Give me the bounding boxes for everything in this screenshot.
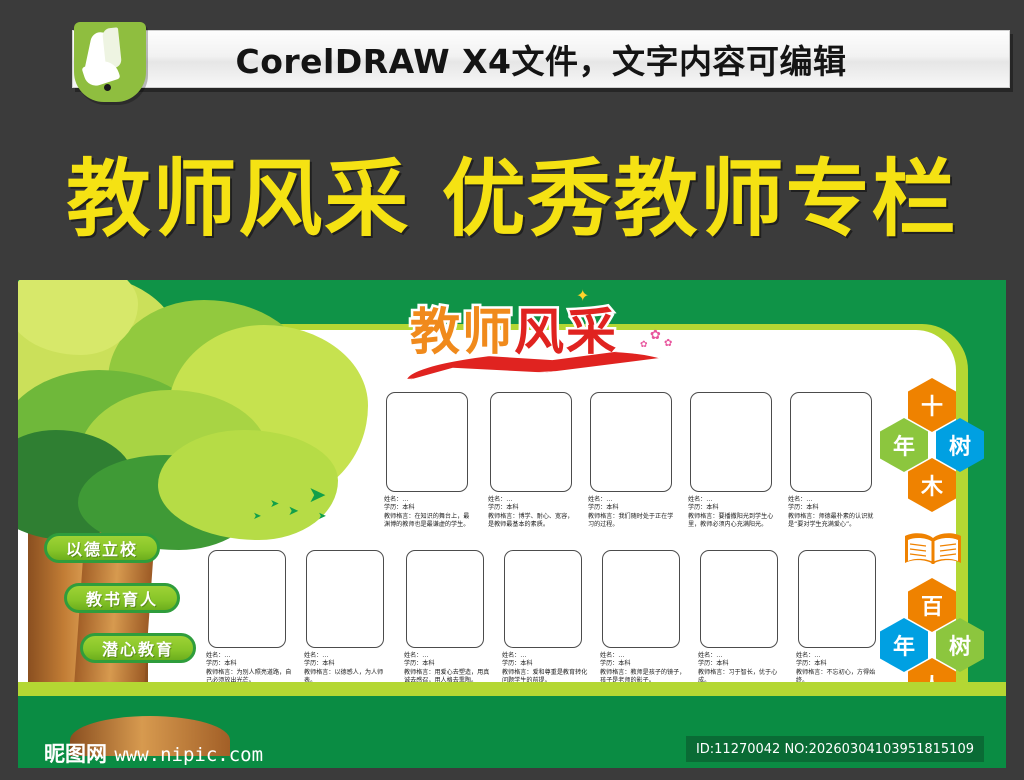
hexagon-5-char: 百: [921, 589, 943, 621]
flower-icon: ✿: [640, 340, 648, 350]
photo-frame[interactable]: [406, 550, 484, 648]
teacher-caption: 姓名：… 学历：本科 教师格言：在知识的舞台上，最渊博的教师也是最谦虚的学生。: [384, 496, 472, 529]
teacher-motto: 教师格言：在知识的舞台上，最渊博的教师也是最谦虚的学生。: [384, 513, 472, 530]
page-title-text: 教师风采 优秀教师专栏: [66, 132, 957, 253]
hexagon-5: 百: [908, 578, 956, 632]
poster-logo-part1: 教师: [410, 303, 514, 361]
hexagon-1-char: 十: [921, 389, 943, 421]
poster-artboard: ➤ ➤ ➤ ➤ ➤ 以德立校 教书育人 潜心教育 教师风采 ✦ ✿ ✿ ✿: [18, 280, 1006, 732]
hexagon-6-char: 年: [893, 629, 915, 661]
teacher-caption: 姓名：… 学历：本科 教师格言：爱和尊重是教育转化问题学生的前提。: [502, 652, 590, 685]
screenshot-root: CorelDRAW X4文件，文字内容可编辑 教师风采 优秀教师专栏: [0, 0, 1024, 780]
hexagon-4-char: 木: [921, 469, 943, 501]
side-banner-1-label: 以德立校: [66, 536, 138, 560]
hexagon-1: 十: [908, 378, 956, 432]
teacher-education: 学历：本科: [698, 660, 786, 668]
side-banner-2: 教书育人: [64, 583, 180, 613]
footer-green-band: 昵图网 www.nipic.com ID:11270042 NO:2026030…: [18, 732, 1006, 768]
teacher-caption: 姓名：… 学历：本科 教师格言：教师是孩子的镜子，孩子是老师的影子。: [600, 652, 688, 685]
teacher-caption: 姓名：… 学历：本科 教师格言：师德最朴素的认识就是“要对学生充满爱心”。: [788, 496, 876, 529]
photo-frame[interactable]: [602, 550, 680, 648]
coreldraw-leaf-logo-icon: [74, 22, 146, 102]
hexagon-6: 年: [880, 618, 928, 672]
teacher-caption: 姓名：… 学历：本科 教师格言：不忘初心，方得始终。: [796, 652, 884, 685]
teacher-caption: 姓名：… 学历：本科 教师格言：习于智长，优于心成。: [698, 652, 786, 685]
coreldraw-notice-text: CorelDRAW X4文件，文字内容可编辑: [235, 35, 846, 83]
teacher-caption: 姓名：… 学历：本科 教师格言：我们随时处于正在学习的过程。: [588, 496, 676, 529]
photo-frame[interactable]: [386, 392, 468, 492]
teacher-education: 学历：本科: [600, 660, 688, 668]
open-book-icon: [900, 530, 966, 570]
photo-frame[interactable]: [208, 550, 286, 648]
teacher-motto: 教师格言：博学、耐心、宽容，是教师最基本的素质。: [488, 513, 576, 530]
teacher-motto: 教师格言：我们随时处于正在学习的过程。: [588, 513, 676, 530]
teacher-education: 学历：本科: [304, 660, 392, 668]
hexagon-7: 树: [936, 618, 984, 672]
teacher-education: 学历：本科: [404, 660, 492, 668]
flower-icon: ✿: [664, 338, 672, 349]
hexagon-2: 年: [880, 418, 928, 472]
teacher-caption: 姓名：… 学历：本科 教师格言：博学、耐心、宽容，是教师最基本的素质。: [488, 496, 576, 529]
image-id-badge: ID:11270042 NO:20260304103951815109: [686, 736, 984, 762]
side-banner-3-label: 潜心教育: [102, 636, 174, 660]
teacher-education: 学历：本科: [488, 504, 576, 512]
poster-logo: 教师风采 ✦ ✿ ✿ ✿: [394, 288, 694, 376]
photo-frame[interactable]: [590, 392, 672, 492]
logo-dot: [104, 84, 111, 91]
side-banner-3: 潜心教育: [80, 633, 196, 663]
hexagon-motto-column: 十 年 树 木 百 年 树 人: [874, 378, 994, 708]
hexagon-7-char: 树: [949, 629, 971, 661]
photo-frame[interactable]: [700, 550, 778, 648]
photo-frame[interactable]: [490, 392, 572, 492]
star-icon: ✦: [576, 286, 589, 305]
flower-icon: ✿: [650, 328, 661, 343]
teacher-caption: 姓名：… 学历：本科 教师格言：为别人照亮道路，自己必须放出光芒。: [206, 652, 294, 685]
teacher-education: 学历：本科: [588, 504, 676, 512]
teacher-motto: 教师格言：要播撒阳光到学生心里，教师必须内心充满阳光。: [688, 513, 776, 530]
hexagon-3-char: 树: [949, 429, 971, 461]
teacher-caption: 姓名：… 学历：本科 教师格言：以德感人，为人师表。: [304, 652, 392, 685]
nipic-site-name: 昵图网: [44, 742, 107, 766]
teacher-caption: 姓名：… 学历：本科 教师格言：用爱心去塑造，用真诚去感召，用人格去熏陶。: [404, 652, 492, 685]
photo-frame[interactable]: [798, 550, 876, 648]
teacher-education: 学历：本科: [796, 660, 884, 668]
footer-watermark-bar: 昵图网 www.nipic.com ID:11270042 NO:2026030…: [0, 732, 1024, 780]
poster-bottom-lime-strip: [18, 682, 1006, 696]
teacher-education: 学历：本科: [502, 660, 590, 668]
teacher-caption: 姓名：… 学历：本科 教师格言：要播撒阳光到学生心里，教师必须内心充满阳光。: [688, 496, 776, 529]
side-banner-1: 以德立校: [44, 533, 160, 563]
hexagon-3: 树: [936, 418, 984, 472]
page-title: 教师风采 优秀教师专栏: [0, 140, 1024, 245]
teacher-education: 学历：本科: [688, 504, 776, 512]
teacher-education: 学历：本科: [206, 660, 294, 668]
teacher-education: 学历：本科: [384, 504, 472, 512]
teacher-education: 学历：本科: [788, 504, 876, 512]
hexagon-4: 木: [908, 458, 956, 512]
coreldraw-notice-bar: CorelDRAW X4文件，文字内容可编辑: [72, 30, 1010, 88]
photo-frame[interactable]: [504, 550, 582, 648]
photo-frame[interactable]: [306, 550, 384, 648]
teacher-motto: 教师格言：师德最朴素的认识就是“要对学生充满爱心”。: [788, 513, 876, 530]
photo-frame[interactable]: [790, 392, 872, 492]
nipic-site-url: www.nipic.com: [114, 744, 263, 766]
image-id-text: ID:11270042 NO:20260304103951815109: [696, 742, 974, 757]
nipic-watermark: 昵图网 www.nipic.com: [44, 738, 263, 768]
side-banner-2-label: 教书育人: [86, 586, 158, 610]
photo-frame[interactable]: [690, 392, 772, 492]
hexagon-2-char: 年: [893, 429, 915, 461]
poster-logo-part2: 风采: [514, 303, 618, 361]
